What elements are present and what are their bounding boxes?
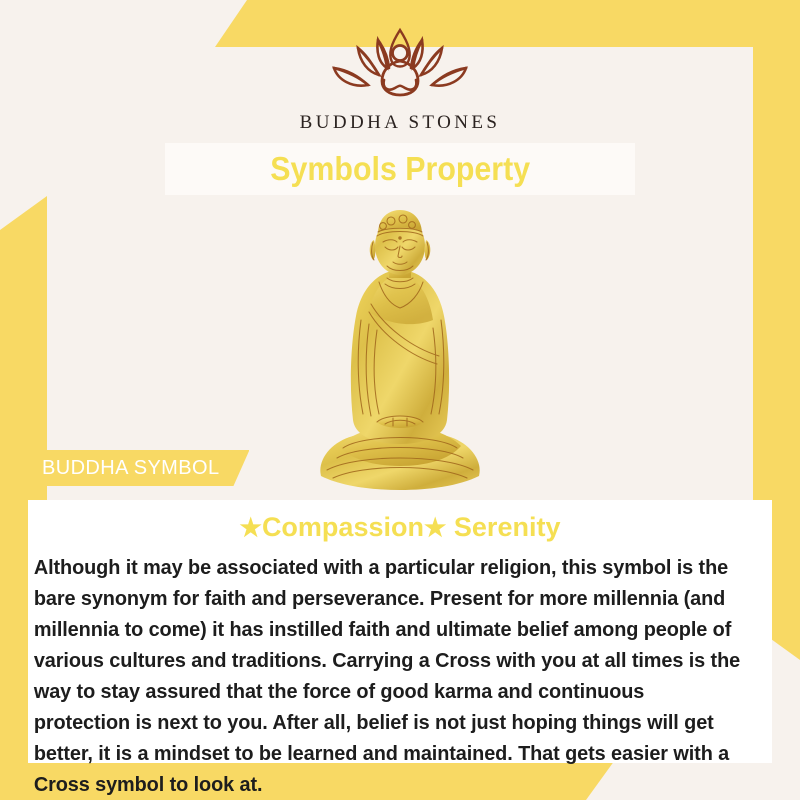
- title-banner: Symbols Property: [165, 143, 635, 195]
- star-icon-two: ★: [424, 514, 446, 542]
- seated-buddha-statue: [309, 208, 491, 500]
- brand-logo: BUDDHA STONES: [0, 22, 800, 134]
- brand-wordmark: BUDDHA STONES: [300, 112, 501, 134]
- star-icon-one: ★: [240, 514, 262, 542]
- page-title: Symbols Property: [270, 150, 530, 188]
- content-panel: ★Compassion★ Serenity Although it may be…: [28, 500, 772, 763]
- poster-root: BUDDHA STONES Symbols Property: [0, 0, 800, 800]
- section-ribbon: BUDDHA SYMBOL: [20, 450, 249, 486]
- lotus-meditation-figure-icon: [316, 22, 484, 108]
- description-paragraph: Although it may be associated with a par…: [28, 552, 750, 800]
- attribute-serenity: Serenity: [454, 512, 561, 542]
- section-ribbon-label: BUDDHA SYMBOL: [42, 457, 219, 480]
- attributes-subtitle: ★Compassion★ Serenity: [28, 512, 772, 543]
- attribute-compassion: Compassion: [262, 512, 424, 542]
